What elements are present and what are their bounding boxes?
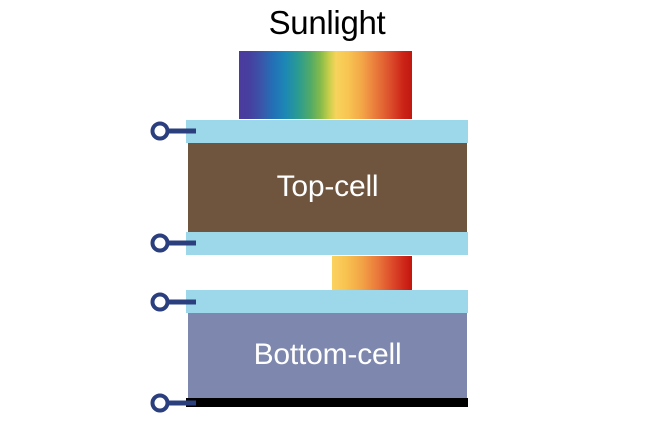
terminal-node-icon: [150, 289, 196, 315]
bottom-cell-absorber: Bottom-cell: [188, 313, 467, 398]
incident-spectrum-icon: [239, 51, 412, 119]
top-cell-front-contact: [186, 120, 468, 143]
top-cell-label: Top-cell: [188, 172, 467, 202]
top-cell-absorber: Top-cell: [188, 143, 467, 232]
bottom-cell-top-terminal[interactable]: [150, 289, 196, 315]
terminal-node-icon: [150, 118, 196, 144]
tandem-solar-cell-diagram: Sunlight: [0, 0, 654, 424]
sunlight-label: Sunlight: [0, 4, 654, 42]
bottom-cell-label: Bottom-cell: [188, 340, 467, 370]
top-cell-bottom-terminal[interactable]: [150, 230, 196, 256]
bottom-cell-back-electrode: [186, 398, 468, 407]
bottom-cell-front-contact: [186, 290, 468, 313]
terminal-node-icon: [150, 390, 196, 416]
top-cell-top-terminal[interactable]: [150, 118, 196, 144]
top-cell-back-contact: [186, 232, 468, 255]
terminal-node-icon: [150, 230, 196, 256]
bottom-cell-bottom-terminal[interactable]: [150, 390, 196, 416]
incident-solar-spectrum: [239, 51, 412, 119]
